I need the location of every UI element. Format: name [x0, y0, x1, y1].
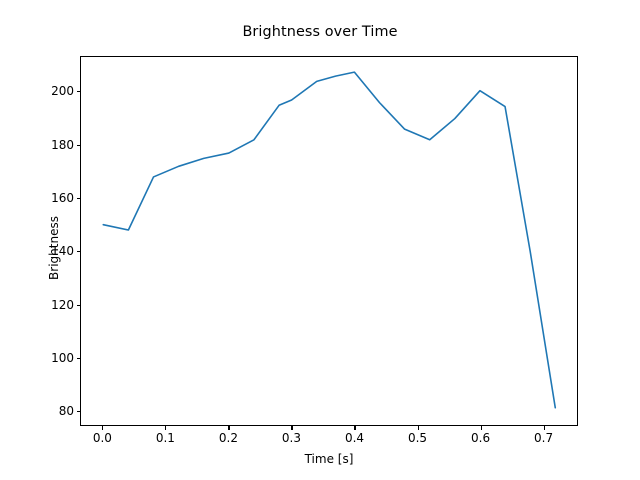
x-tick-label: 0.7: [514, 431, 574, 445]
x-tick-mark: [165, 426, 166, 430]
y-tick-mark: [77, 251, 81, 252]
x-tick-label: 0.2: [198, 431, 258, 445]
x-tick-mark: [418, 426, 419, 430]
y-tick-mark: [77, 411, 81, 412]
y-tick-label: 200: [0, 84, 74, 98]
y-tick-mark: [77, 145, 81, 146]
x-tick-label: 0.1: [135, 431, 195, 445]
x-tick-label: 0.6: [451, 431, 511, 445]
y-tick-label: 80: [0, 404, 74, 418]
x-axis-label: Time [s]: [80, 452, 578, 466]
x-tick-mark: [102, 426, 103, 430]
y-tick-label: 180: [0, 138, 74, 152]
x-tick-mark: [354, 426, 355, 430]
x-tick-label: 0.4: [324, 431, 384, 445]
y-tick-label: 160: [0, 191, 74, 205]
figure-canvas: Brightness over Time Brightness Time [s]…: [0, 0, 640, 480]
y-tick-mark: [77, 198, 81, 199]
chart-title: Brightness over Time: [0, 24, 640, 40]
y-tick-mark: [77, 305, 81, 306]
y-tick-label: 140: [0, 244, 74, 258]
line-series-brightness: [103, 72, 555, 408]
x-tick-mark: [481, 426, 482, 430]
x-tick-label: 0.5: [388, 431, 448, 445]
x-tick-mark: [544, 426, 545, 430]
plot-area: [80, 56, 578, 426]
y-tick-mark: [77, 358, 81, 359]
x-tick-mark: [228, 426, 229, 430]
y-tick-mark: [77, 91, 81, 92]
y-tick-label: 120: [0, 298, 74, 312]
x-tick-label: 0.3: [261, 431, 321, 445]
line-series-svg: [81, 57, 577, 425]
x-tick-label: 0.0: [72, 431, 132, 445]
y-tick-label: 100: [0, 351, 74, 365]
x-tick-mark: [291, 426, 292, 430]
